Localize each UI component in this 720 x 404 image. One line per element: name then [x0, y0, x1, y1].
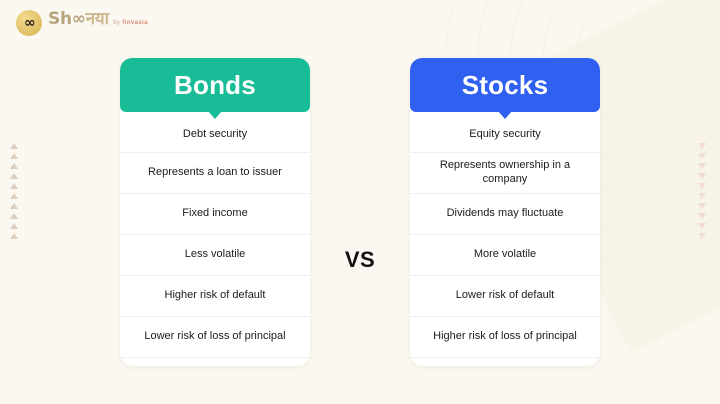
brand-logo[interactable]: ∞ Sh∞नया by finvasia [16, 10, 148, 36]
rows-stocks: Equity security Represents ownership in … [410, 112, 600, 358]
infinity-glyph: ∞ [24, 16, 34, 30]
column-title-stocks: Stocks [462, 70, 548, 101]
column-title-bonds: Bonds [174, 70, 256, 101]
brand-logo-text: Sh∞नया by finvasia [48, 10, 148, 29]
row-stocks-6: Higher risk of loss of principal [410, 317, 600, 358]
infinity-mark-icon: ∞ [16, 10, 42, 36]
brand-tagline: by finvasia [113, 20, 148, 26]
row-stocks-2: Represents ownership in a company [410, 153, 600, 194]
row-bonds-3: Fixed income [120, 194, 310, 235]
row-stocks-5: Lower risk of default [410, 276, 600, 317]
row-bonds-4: Less volatile [120, 235, 310, 276]
column-header-bonds: Bonds [120, 58, 310, 112]
row-bonds-5: Higher risk of default [120, 276, 310, 317]
slide-canvas: ∞ Sh∞नया by finvasia Bonds Debt security… [0, 0, 720, 404]
versus-label: VS [310, 247, 410, 273]
column-header-stocks: Stocks [410, 58, 600, 112]
column-stocks: Stocks Equity security Represents owners… [410, 58, 600, 366]
row-bonds-2: Represents a loan to issuer [120, 153, 310, 194]
brand-name-infinity: ∞ [72, 9, 86, 29]
row-stocks-3: Dividends may fluctuate [410, 194, 600, 235]
tagline-brand: finvasia [122, 20, 148, 26]
brand-name: Sh∞नया [48, 9, 109, 29]
brand-name-latin: Sh [48, 9, 72, 29]
row-bonds-6: Lower risk of loss of principal [120, 317, 310, 358]
rows-bonds: Debt security Represents a loan to issue… [120, 112, 310, 358]
comparison-table: Bonds Debt security Represents a loan to… [0, 58, 720, 366]
row-stocks-4: More volatile [410, 235, 600, 276]
column-bonds: Bonds Debt security Represents a loan to… [120, 58, 310, 366]
brand-name-devanagari: नया [86, 9, 109, 29]
